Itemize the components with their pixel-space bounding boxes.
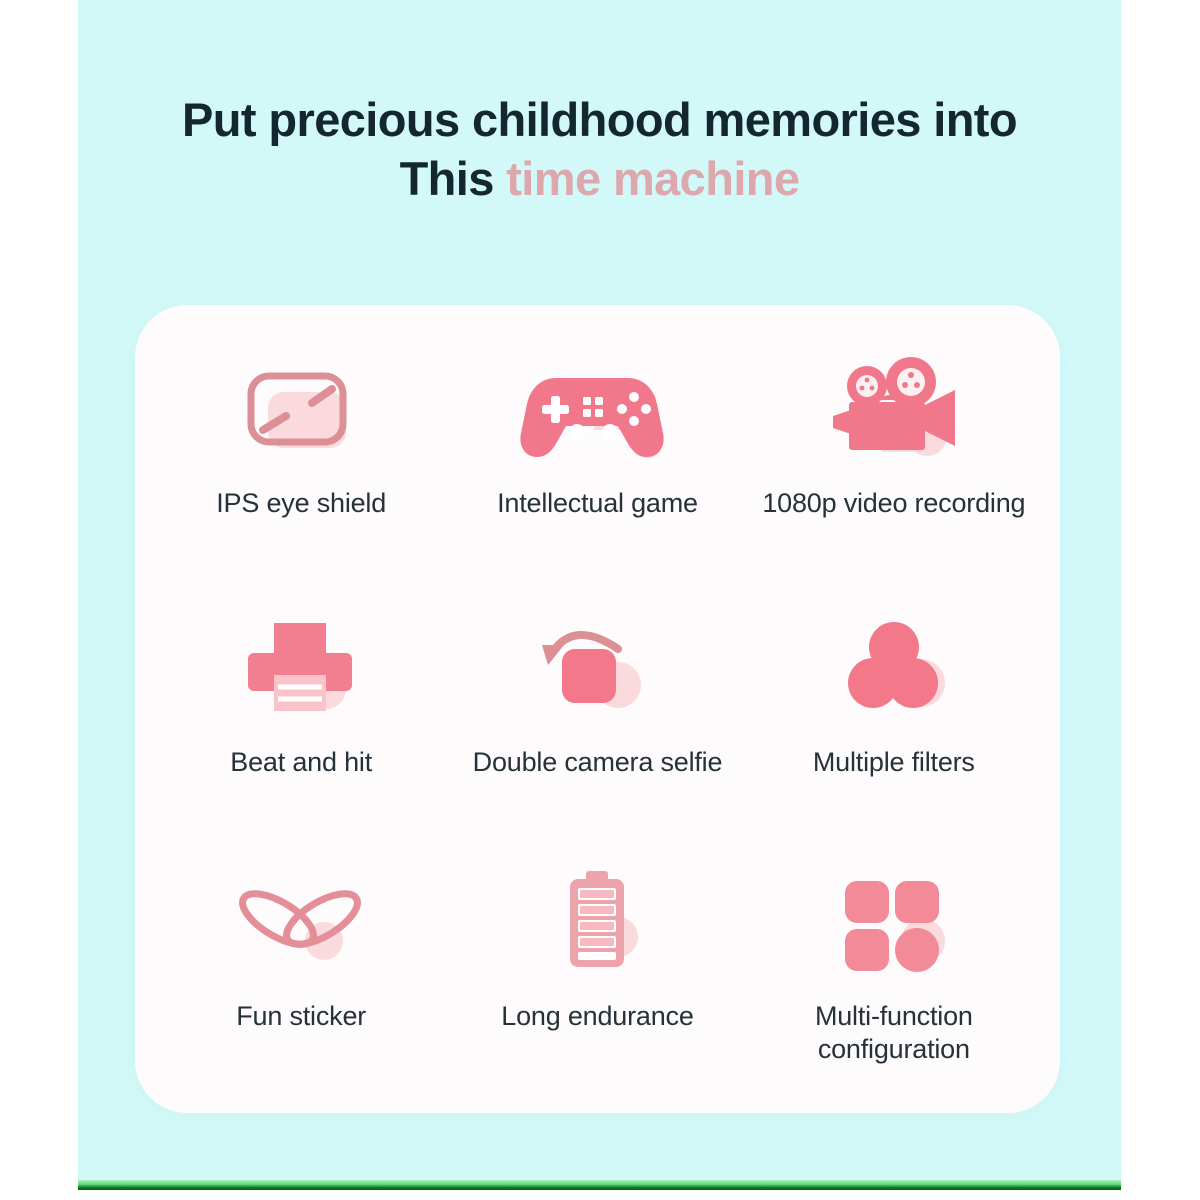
headline-line-1: Put precious childhood memories into — [78, 92, 1121, 147]
feature-item-video-recording[interactable]: 1080p video recording — [746, 331, 1042, 586]
feature-label: Intellectual game — [497, 487, 698, 520]
three-circles-icon — [819, 606, 969, 724]
feature-item-multiple-filters[interactable]: Multiple filters — [746, 586, 1042, 841]
four-shapes-grid-icon — [819, 860, 969, 978]
feature-label: Multi-function configuration — [759, 1000, 1029, 1066]
feature-label: IPS eye shield — [216, 487, 386, 520]
gamepad-icon — [522, 351, 672, 469]
printer-icon — [226, 606, 376, 724]
feature-label: Multiple filters — [813, 746, 975, 779]
feature-label: Long endurance — [501, 1000, 693, 1033]
headline-accent: time machine — [506, 152, 799, 205]
movie-camera-icon — [819, 351, 969, 469]
headline-line-2-prefix: This — [400, 152, 507, 205]
screen-shine-icon — [226, 351, 376, 469]
feature-grid: IPS eye shield — [135, 305, 1060, 1113]
page-title: Put precious childhood memories into Thi… — [78, 92, 1121, 207]
feature-item-beat-and-hit[interactable]: Beat and hit — [153, 586, 449, 841]
feature-label: 1080p video recording — [762, 487, 1025, 520]
battery-icon — [522, 860, 672, 978]
poster-panel: Put precious childhood memories into Thi… — [78, 0, 1121, 1190]
feature-item-multi-function-configuration[interactable]: Multi-function configuration — [746, 840, 1042, 1095]
butterfly-wings-icon — [226, 860, 376, 978]
feature-card: IPS eye shield — [135, 305, 1060, 1113]
feature-item-fun-sticker[interactable]: Fun sticker — [153, 840, 449, 1095]
poster-page: Put precious childhood memories into Thi… — [0, 0, 1200, 1200]
feature-item-long-endurance[interactable]: Long endurance — [449, 840, 745, 1095]
feature-item-double-camera-selfie[interactable]: Double camera selfie — [449, 586, 745, 841]
feature-label: Fun sticker — [236, 1000, 366, 1033]
feature-label: Beat and hit — [230, 746, 372, 779]
feature-label: Double camera selfie — [473, 746, 723, 779]
feature-item-intellectual-game[interactable]: Intellectual game — [449, 331, 745, 586]
feature-item-ips-eye-shield[interactable]: IPS eye shield — [153, 331, 449, 586]
camera-flip-icon — [522, 606, 672, 724]
headline-line-2: This time machine — [78, 151, 1121, 206]
bottom-accent-stripe — [78, 1180, 1121, 1190]
